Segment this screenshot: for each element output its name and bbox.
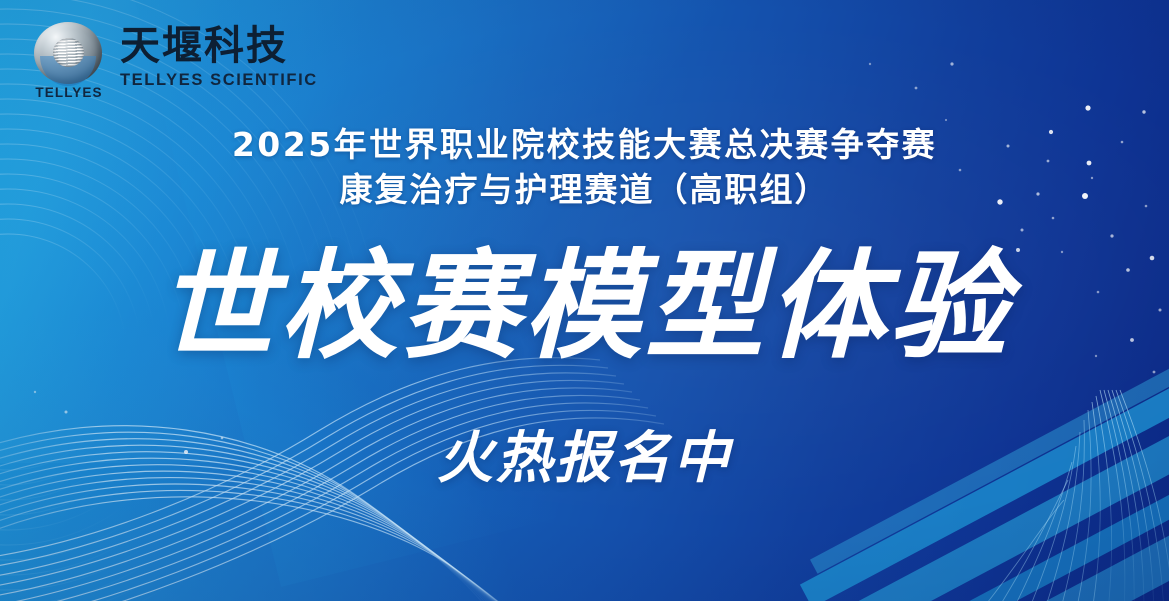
brand-name-english: TELLYES SCIENTIFIC bbox=[120, 71, 318, 90]
event-subtitle: 2025年世界职业院校技能大赛总决赛争夺赛 康复治疗与护理赛道（高职组） bbox=[0, 122, 1169, 212]
event-subtitle-line-1: 2025年世界职业院校技能大赛总决赛争夺赛 bbox=[0, 122, 1169, 167]
page-title: 世校赛模型体验 bbox=[0, 240, 1169, 372]
registration-status-text: 火热报名中 bbox=[0, 425, 1169, 493]
logo-mark-caption: TELLYES bbox=[33, 85, 105, 100]
brand-wordmark: 天堰科技 TELLYES SCIENTIFIC bbox=[120, 22, 318, 90]
brand-name-chinese: 天堰科技 bbox=[120, 24, 318, 68]
tellyes-sphere-logo-icon: TELLYES bbox=[34, 22, 106, 94]
promotional-banner: TELLYES 天堰科技 TELLYES SCIENTIFIC 2025年世界职… bbox=[0, 0, 1169, 601]
event-subtitle-line-2: 康复治疗与护理赛道（高职组） bbox=[0, 167, 1169, 212]
logo-striped-core-icon bbox=[53, 38, 84, 67]
brand-logo: TELLYES 天堰科技 TELLYES SCIENTIFIC bbox=[34, 22, 318, 94]
